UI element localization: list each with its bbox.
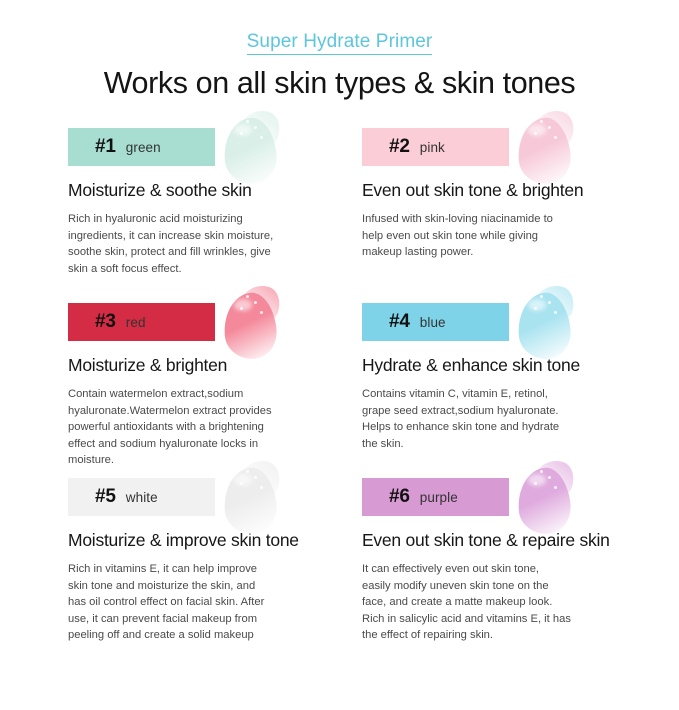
- shade-card: #4blueHydrate & enhance skin toneContain…: [362, 297, 627, 472]
- description-line: Contains vitamin C, vitamin E, retinol,: [362, 386, 614, 402]
- shade-description: It can effectively even out skin tone,ea…: [362, 561, 614, 643]
- shade-benefit-title: Moisturize & brighten: [68, 355, 333, 376]
- shade-benefit-title: Even out skin tone & repaire skin: [362, 530, 627, 551]
- swatch-row: #5white: [68, 472, 333, 528]
- shade-card: #3redMoisturize & brightenContain waterm…: [68, 297, 333, 472]
- description-line: has oil control effect on facial skin. A…: [68, 594, 320, 610]
- description-line: face, and create a matte makeup look.: [362, 594, 614, 610]
- cream-smear-icon: [514, 110, 578, 188]
- shade-description: Rich in vitamins E, it can help improves…: [68, 561, 320, 643]
- shade-number: #4: [389, 311, 410, 333]
- cream-smear-icon: [514, 285, 578, 363]
- product-brand-link[interactable]: Super Hydrate Primer: [247, 31, 433, 55]
- description-line: powerful antioxidants with a brightening: [68, 419, 320, 435]
- swatch-row: #6purple: [362, 472, 627, 528]
- shade-card: #5whiteMoisturize & improve skin toneRic…: [68, 472, 333, 652]
- shade-number: #3: [95, 311, 116, 333]
- shade-color-name: blue: [420, 315, 446, 330]
- swatch-row: #3red: [68, 297, 333, 353]
- cream-smear-icon: [220, 110, 284, 188]
- cream-smear-icon: [220, 460, 284, 538]
- shade-label-bar[interactable]: #4blue: [362, 303, 509, 341]
- description-line: Contain watermelon extract,sodium: [68, 386, 320, 402]
- description-line: Rich in vitamins E, it can help improve: [68, 561, 320, 577]
- description-line: peeling off and create a solid makeup: [68, 627, 320, 643]
- shade-card: #6purpleEven out skin tone & repaire ski…: [362, 472, 627, 652]
- description-line: help even out skin tone while giving: [362, 228, 614, 244]
- description-line: grape seed extract,sodium hyaluronate.: [362, 403, 614, 419]
- description-line: moisture.: [68, 452, 320, 468]
- shade-color-name: pink: [420, 140, 445, 155]
- description-line: Rich in hyaluronic acid moisturizing: [68, 211, 320, 227]
- shade-description: Infused with skin-loving niacinamide toh…: [362, 211, 614, 260]
- description-line: Helps to enhance skin tone and hydrate: [362, 419, 614, 435]
- description-line: skin tone and moisturize the skin, and: [68, 578, 320, 594]
- description-line: the skin.: [362, 436, 614, 452]
- shade-benefit-title: Hydrate & enhance skin tone: [362, 355, 627, 376]
- shade-description: Contain watermelon extract,sodiumhyaluro…: [68, 386, 320, 468]
- shade-benefit-title: Moisturize & improve skin tone: [68, 530, 333, 551]
- shade-label-bar[interactable]: #2pink: [362, 128, 509, 166]
- shade-number: #6: [389, 486, 410, 508]
- shade-label-bar[interactable]: #6purple: [362, 478, 509, 516]
- shade-number: #5: [95, 486, 116, 508]
- description-line: easily modify uneven skin tone on the: [362, 578, 614, 594]
- shade-number: #2: [389, 136, 410, 158]
- description-line: hyaluronate.Watermelon extract provides: [68, 403, 320, 419]
- shade-label-bar[interactable]: #3red: [68, 303, 215, 341]
- product-info-page: Super Hydrate Primer Works on all skin t…: [0, 31, 679, 710]
- shade-number: #1: [95, 136, 116, 158]
- description-line: ingredients, it can increase skin moistu…: [68, 228, 320, 244]
- description-line: It can effectively even out skin tone,: [362, 561, 614, 577]
- description-line: Infused with skin-loving niacinamide to: [362, 211, 614, 227]
- shade-color-name: purple: [420, 490, 458, 505]
- cream-smear-icon: [220, 285, 284, 363]
- swatch-row: #2pink: [362, 122, 627, 178]
- shade-description: Rich in hyaluronic acid moisturizingingr…: [68, 211, 320, 277]
- description-line: makeup lasting power.: [362, 244, 614, 260]
- swatch-row: #1green: [68, 122, 333, 178]
- description-line: use, it can prevent facial makeup from: [68, 611, 320, 627]
- shade-label-bar[interactable]: #5white: [68, 478, 215, 516]
- shade-card: #1greenMoisturize & soothe skinRich in h…: [68, 122, 333, 297]
- description-line: effect and sodium hyaluronate locks in: [68, 436, 320, 452]
- shade-label-bar[interactable]: #1green: [68, 128, 215, 166]
- swatch-row: #4blue: [362, 297, 627, 353]
- description-line: the effect of repairing skin.: [362, 627, 614, 643]
- description-line: Rich in salicylic acid and vitamins E, i…: [362, 611, 614, 627]
- page-title: Works on all skin types & skin tones: [0, 66, 679, 102]
- shade-color-name: green: [126, 140, 161, 155]
- shade-benefit-title: Moisturize & soothe skin: [68, 180, 333, 201]
- shade-color-name: white: [126, 490, 158, 505]
- shade-grid: #1greenMoisturize & soothe skinRich in h…: [0, 122, 679, 652]
- brand-line: Super Hydrate Primer: [0, 31, 679, 55]
- description-line: skin a soft focus effect.: [68, 261, 320, 277]
- shade-description: Contains vitamin C, vitamin E, retinol,g…: [362, 386, 614, 452]
- shade-benefit-title: Even out skin tone & brighten: [362, 180, 627, 201]
- cream-smear-icon: [514, 460, 578, 538]
- shade-color-name: red: [126, 315, 146, 330]
- shade-card: #2pinkEven out skin tone & brightenInfus…: [362, 122, 627, 297]
- description-line: soothe skin, protect and fill wrinkles, …: [68, 244, 320, 260]
